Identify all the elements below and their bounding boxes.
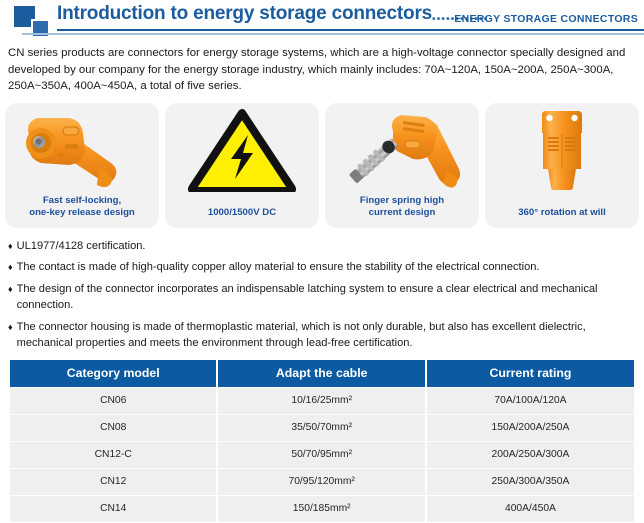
cell-category-model: CN12 bbox=[10, 469, 216, 495]
logo-square-small bbox=[31, 19, 50, 38]
column-header-adapt-the-cable: Adapt the cable bbox=[218, 360, 424, 387]
column-header-category-model: Category model bbox=[10, 360, 216, 387]
caption-line-2: one-key release design bbox=[29, 207, 135, 218]
feature-card-self-locking[interactable]: Fast self-locking, one-key release desig… bbox=[5, 103, 159, 228]
intro-paragraph: CN series products are connectors for en… bbox=[8, 45, 636, 95]
feature-card-finger-spring[interactable]: Finger spring high current design bbox=[325, 103, 479, 228]
diamond-bullet-icon: ♦ bbox=[8, 281, 13, 298]
table-row: CN14 150/185mm² 400A/450A bbox=[10, 496, 634, 522]
cell-current-rating: 400A/450A bbox=[427, 496, 634, 522]
cell-category-model: CN14 bbox=[10, 496, 216, 522]
list-item-text: The design of the connector incorporates… bbox=[17, 281, 636, 314]
cell-current-rating: 200A/250A/300A bbox=[427, 442, 634, 468]
column-header-current-rating: Current rating bbox=[427, 360, 634, 387]
table-row: CN12-C 50/70/95mm² 200A/250A/300A bbox=[10, 442, 634, 468]
feature-card-list: Fast self-locking, one-key release desig… bbox=[5, 103, 639, 228]
page-title: Introduction to energy storage connector… bbox=[57, 3, 432, 25]
list-item-text: The contact is made of high-quality copp… bbox=[17, 259, 636, 276]
table-row: CN06 10/16/25mm² 70A/100A/120A bbox=[10, 388, 634, 414]
cell-category-model: CN12-C bbox=[10, 442, 216, 468]
feature-card-rotation[interactable]: 360° rotation at will bbox=[485, 103, 639, 228]
diamond-bullet-icon: ♦ bbox=[8, 319, 13, 336]
table-row: CN08 35/50/70mm² 150A/200A/250A bbox=[10, 415, 634, 441]
header-rule-dark bbox=[57, 29, 644, 31]
caption-line-1: Fast self-locking, bbox=[43, 195, 121, 206]
feature-card-caption: Fast self-locking, one-key release desig… bbox=[9, 195, 155, 220]
list-item: ♦ The contact is made of high-quality co… bbox=[8, 259, 636, 276]
feature-card-caption: 1000/1500V DC bbox=[169, 207, 315, 220]
diamond-bullet-icon: ♦ bbox=[8, 238, 13, 255]
list-item-text: The connector housing is made of thermop… bbox=[17, 319, 636, 352]
cell-adapt-the-cable: 70/95/120mm² bbox=[218, 469, 424, 495]
cell-adapt-the-cable: 35/50/70mm² bbox=[218, 415, 424, 441]
angled-orange-connector-icon bbox=[5, 107, 159, 192]
caption-line-1: 1000/1500V DC bbox=[208, 207, 276, 218]
cell-adapt-the-cable: 150/185mm² bbox=[218, 496, 424, 522]
cell-adapt-the-cable: 10/16/25mm² bbox=[218, 388, 424, 414]
cell-current-rating: 150A/200A/250A bbox=[427, 415, 634, 441]
feature-card-caption: 360° rotation at will bbox=[489, 207, 635, 220]
page-header: Introduction to energy storage connector… bbox=[0, 0, 644, 38]
table-header-row: Category model Adapt the cable Current r… bbox=[10, 360, 634, 387]
high-voltage-warning-triangle-icon bbox=[165, 107, 319, 192]
cell-category-model: CN08 bbox=[10, 415, 216, 441]
specification-table-wrapper: Category model Adapt the cable Current r… bbox=[8, 359, 636, 523]
cell-current-rating: 70A/100A/120A bbox=[427, 388, 634, 414]
feature-card-caption: Finger spring high current design bbox=[329, 195, 475, 220]
cell-current-rating: 250A/300A/350A bbox=[427, 469, 634, 495]
header-tagline: ENERGY STORAGE CONNECTORS bbox=[454, 13, 638, 25]
cell-adapt-the-cable: 50/70/95mm² bbox=[218, 442, 424, 468]
table-row: CN12 70/95/120mm² 250A/300A/350A bbox=[10, 469, 634, 495]
page-root: Introduction to energy storage connector… bbox=[0, 0, 644, 500]
finger-spring-contact-connector-icon bbox=[325, 107, 479, 192]
list-item: ♦ The connector housing is made of therm… bbox=[8, 319, 636, 352]
cell-category-model: CN06 bbox=[10, 388, 216, 414]
list-item-text: UL1977/4128 certification. bbox=[17, 238, 636, 255]
list-item: ♦ The design of the connector incorporat… bbox=[8, 281, 636, 314]
list-item: ♦ UL1977/4128 certification. bbox=[8, 238, 636, 255]
diamond-bullet-icon: ♦ bbox=[8, 259, 13, 276]
feature-bullet-list: ♦ UL1977/4128 certification. ♦ The conta… bbox=[8, 238, 636, 352]
caption-line-1: 360° rotation at will bbox=[518, 207, 606, 218]
specification-table: Category model Adapt the cable Current r… bbox=[8, 359, 636, 523]
orange-connector-front-view-icon bbox=[485, 107, 639, 192]
two-squares-logo bbox=[14, 6, 52, 34]
caption-line-2: current design bbox=[369, 207, 436, 218]
header-rule-light bbox=[22, 33, 644, 35]
caption-line-1: Finger spring high bbox=[360, 195, 444, 206]
feature-card-voltage-rating[interactable]: 1000/1500V DC bbox=[165, 103, 319, 228]
